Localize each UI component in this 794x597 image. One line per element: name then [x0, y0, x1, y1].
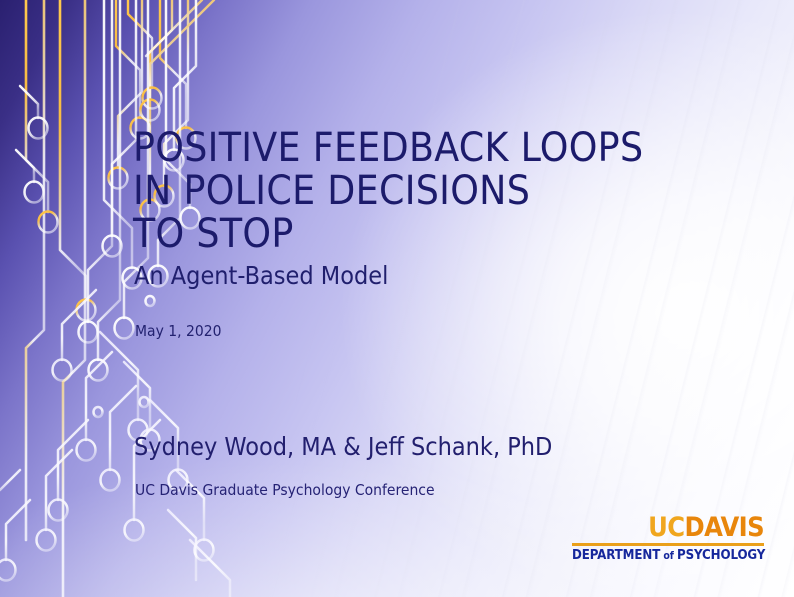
logo-davis-text: DAVIS	[685, 512, 764, 543]
slide-title: POSITIVE FEEDBACK LOOPS IN POLICE DECISI…	[133, 126, 733, 255]
uc-davis-logo: UCDAVIS DEPARTMENT of PSYCHOLOGY	[572, 514, 764, 563]
slide-date: May 1, 2020	[135, 322, 221, 340]
slide-affiliation: UC Davis Graduate Psychology Conference	[135, 481, 435, 499]
logo-department-prefix: DEPARTMENT	[572, 548, 660, 563]
logo-department-line: DEPARTMENT of PSYCHOLOGY	[572, 548, 764, 563]
uc-davis-wordmark: UCDAVIS	[572, 514, 764, 541]
slide-authors: Sydney Wood, MA & Jeff Schank, PhD	[134, 432, 552, 461]
logo-department-name: PSYCHOLOGY	[677, 548, 765, 563]
presentation-slide: POSITIVE FEEDBACK LOOPS IN POLICE DECISI…	[0, 0, 794, 597]
logo-department-of: of	[663, 550, 673, 562]
logo-uc-text: UC	[648, 512, 684, 543]
logo-divider-rule	[572, 543, 764, 546]
circuit-board-decoration	[0, 0, 300, 597]
slide-subtitle: An Agent-Based Model	[134, 261, 388, 291]
